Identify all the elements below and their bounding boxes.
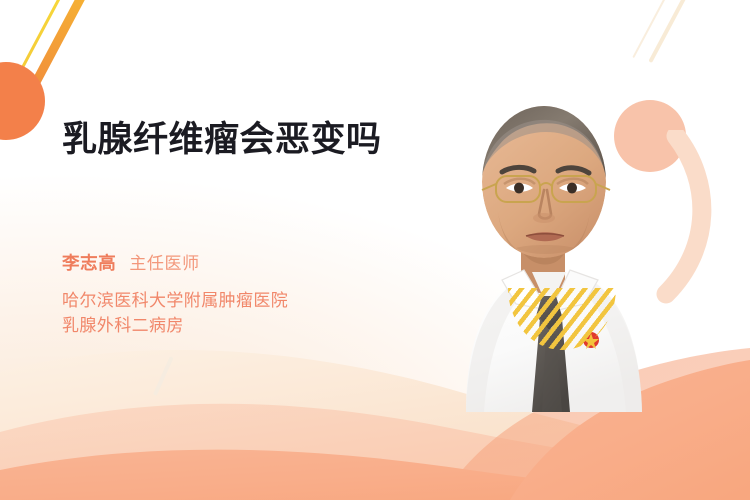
doctor-name: 李志高 xyxy=(62,250,116,275)
page-title: 乳腺纤维瘤会恶变吗 xyxy=(62,118,412,161)
byline: 李志高 主任医师 xyxy=(62,249,200,275)
doctor-professional-title: 主任医师 xyxy=(129,249,199,274)
affiliation-hospital: 哈尔滨医科大学附属肿瘤医院 xyxy=(62,288,392,313)
affiliation-department: 乳腺外科二病房 xyxy=(62,313,392,338)
doctor-video-cover: 乳腺纤维瘤会恶变吗 李志高 主任医师 哈尔滨医科大学附属肿瘤医院 乳腺外科二病房 xyxy=(0,0,750,500)
doctor-portrait xyxy=(420,72,690,412)
affiliation: 哈尔滨医科大学附属肿瘤医院 乳腺外科二病房 xyxy=(62,288,392,338)
